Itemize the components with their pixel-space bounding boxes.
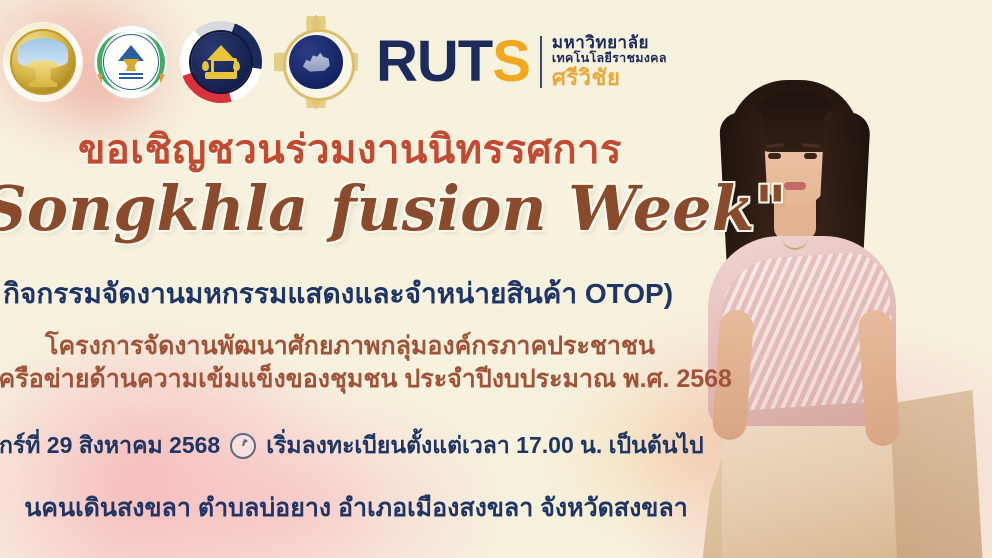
schedule-line: ศุกร์ที่ 29 สิงหาคม 2568 เริ่มลงทะเบียนต… [0,428,694,464]
event-time: เริ่มลงทะเบียนตั้งแต่เวลา 17.00 น. เป็นต… [266,428,703,464]
ruts-divider [540,36,542,88]
ruts-letters-accent: S [492,36,530,88]
community-development-seal-icon [94,25,168,99]
project-description: โครงการจัดงานพัฒนาศักยภาพกลุ่มองค์กรภาคป… [0,330,700,396]
ruts-thai-line1: มหาวิทยาลัย [552,34,667,52]
ministry-interior-seal-icon [180,21,262,103]
event-subtitle: กิจกรรมจัดงานมหกรรมแสดงและจำหน่ายสินค้า … [0,272,688,316]
clock-icon [230,433,256,459]
logo-strip: RUTS มหาวิทยาลัย เทคโนโลยีราชมงคล ศรีวิช… [4,16,667,108]
ruts-thai-line2: เทคโนโลยีราชมงคล [552,52,667,65]
venue-line: นคนเดินสงขลา ตำบลบ่อยาง อำเภอเมืองสงขลา … [0,488,726,528]
ruts-thai-line3: ศรีวิชัย [552,66,667,89]
university-seal-icon [274,16,358,108]
invitation-headline: ขอเชิญชวนร่วมงานนิทรรศการ [0,130,700,170]
ruts-letters: RUTS [376,36,530,88]
project-line-1: โครงการจัดงานพัฒนาศักยภาพกลุ่มองค์กรภาคป… [0,330,700,363]
poster-canvas: RUTS มหาวิทยาลัย เทคโนโลยีราชมงคล ศรีวิช… [0,0,992,558]
ruts-letters-primary: RUT [376,36,492,88]
event-date: ศุกร์ที่ 29 สิงหาคม 2568 [0,428,220,464]
provincial-gold-seal-icon [4,23,82,101]
ruts-wordmark: RUTS มหาวิทยาลัย เทคโนโลยีราชมงคล ศรีวิช… [376,34,667,89]
project-line-2: เครือข่ายด้านความเข้มแข็งของชุมชน ประจำป… [0,363,700,396]
event-name-title: Songkhla fusion Week" [0,178,682,240]
ruts-thai-name: มหาวิทยาลัย เทคโนโลยีราชมงคล ศรีวิชัย [552,34,667,89]
